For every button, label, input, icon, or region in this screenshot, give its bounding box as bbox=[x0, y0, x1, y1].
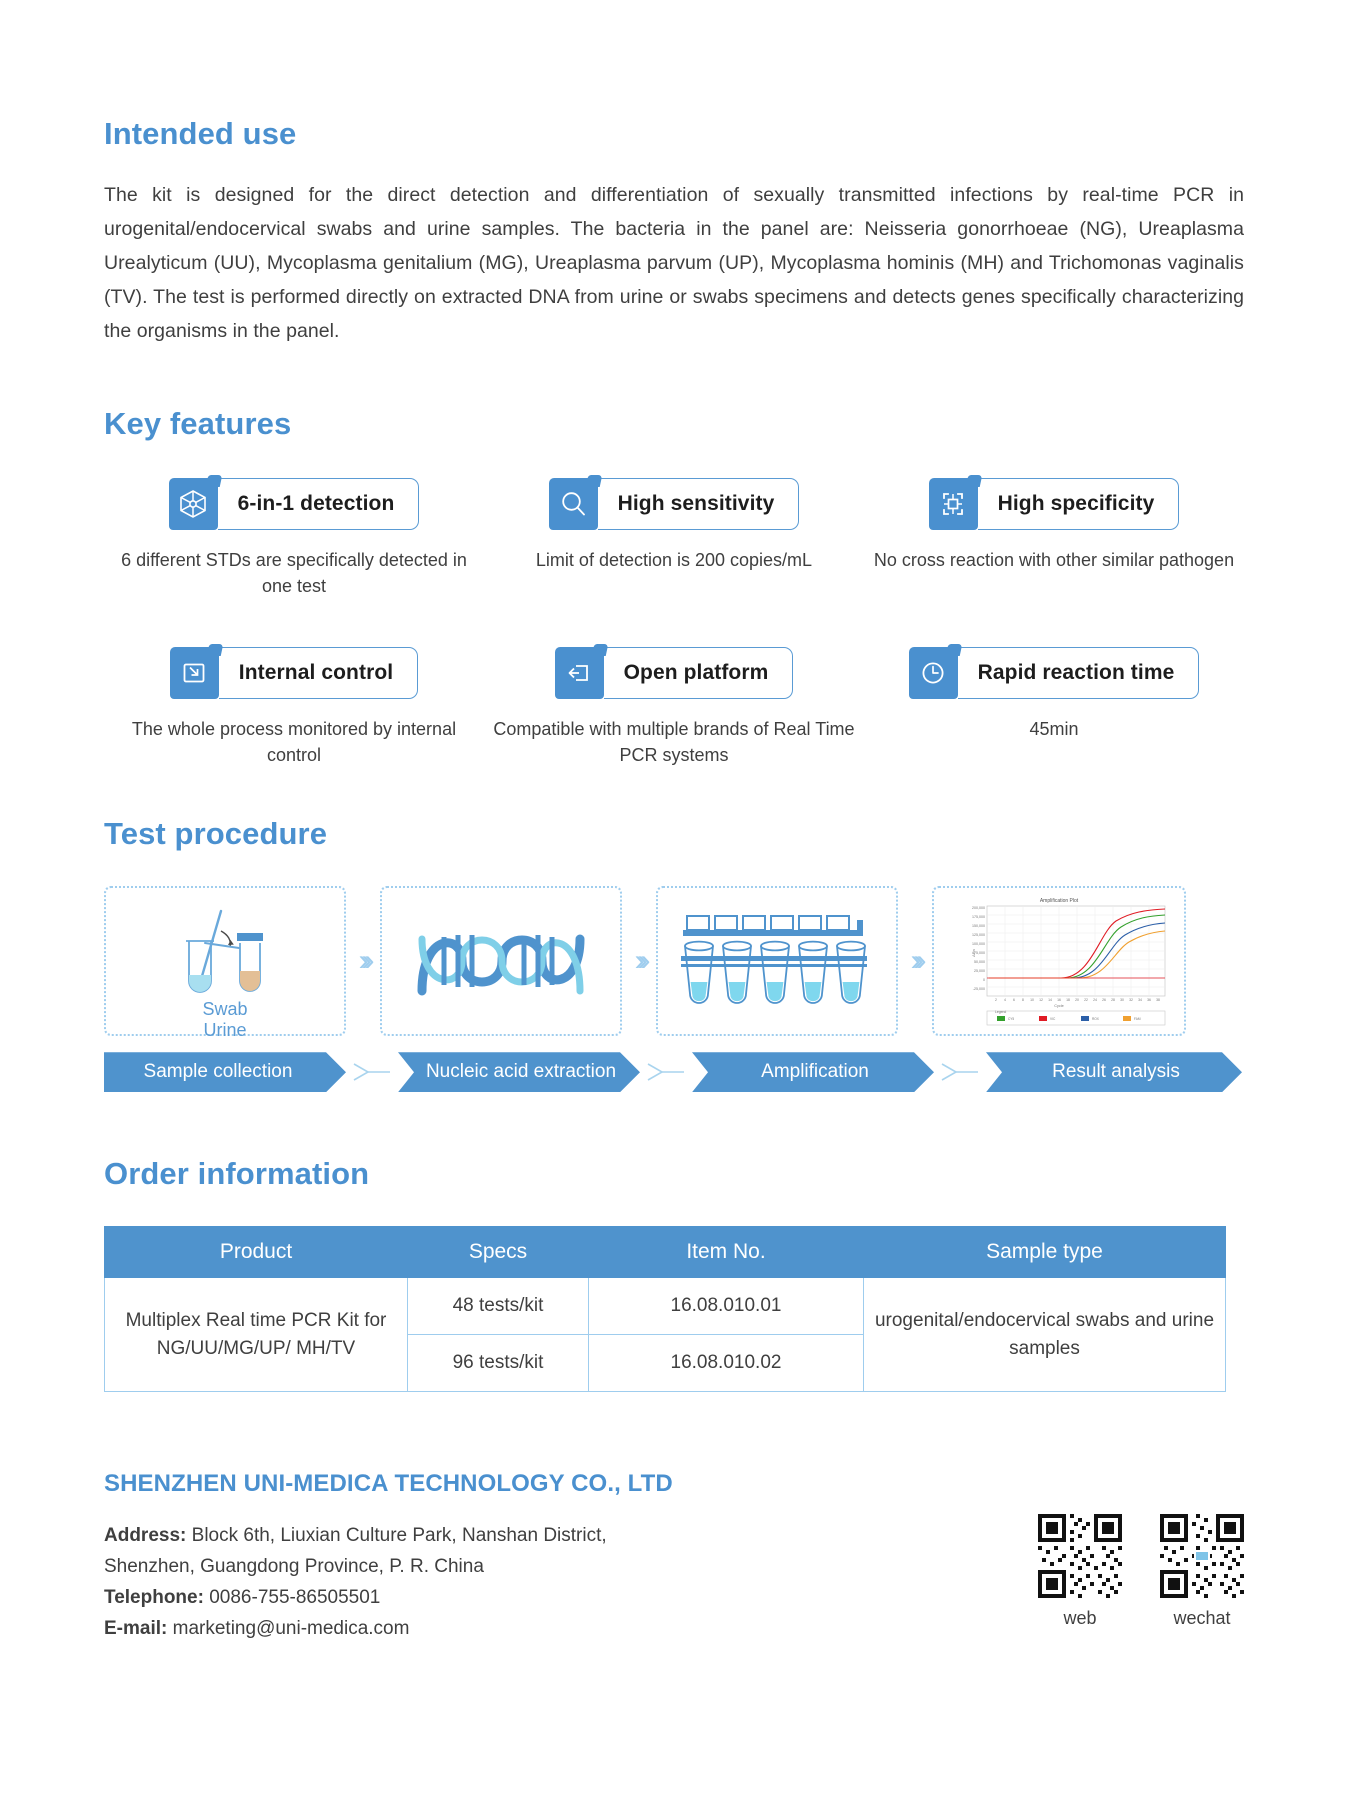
feature-badge: 6-in-1 detection bbox=[169, 478, 420, 530]
procedure-flow: Sample collection Nucleic acid extractio… bbox=[104, 1052, 1244, 1092]
qr-codes: web bbox=[1038, 1514, 1244, 1629]
footer-section: SHENZHEN UNI-MEDICA TECHNOLOGY CO., LTD … bbox=[104, 1470, 1244, 1644]
target-frame-icon bbox=[929, 478, 978, 530]
feature-internal-control: Internal control The whole process monit… bbox=[104, 647, 484, 768]
chevron-separator-icon: ››› bbox=[622, 946, 656, 976]
table-header-row: Product Specs Item No. Sample type bbox=[105, 1227, 1226, 1278]
svg-text:125,000: 125,000 bbox=[972, 933, 985, 937]
qr-code-web: web bbox=[1038, 1514, 1122, 1629]
feature-badge: Internal control bbox=[170, 647, 418, 699]
flow-step-amplification: Amplification bbox=[692, 1052, 934, 1092]
cell-specs: 96 tests/kit bbox=[408, 1335, 589, 1392]
svg-text:2: 2 bbox=[995, 998, 997, 1002]
feature-label: 6-in-1 detection bbox=[218, 478, 420, 530]
svg-text:32: 32 bbox=[1129, 998, 1133, 1002]
dna-helix-drawing bbox=[416, 913, 586, 1009]
svg-text:8: 8 bbox=[1022, 998, 1024, 1002]
intended-use-title: Intended use bbox=[104, 115, 1244, 152]
svg-text:26: 26 bbox=[1102, 998, 1106, 1002]
chevron-separator-icon: ››› bbox=[898, 946, 932, 976]
svg-text:-25,000: -25,000 bbox=[973, 987, 985, 991]
intended-use-body: The kit is designed for the direct detec… bbox=[104, 178, 1244, 348]
svg-text:ROX: ROX bbox=[1092, 1017, 1100, 1021]
column-header-product: Product bbox=[105, 1227, 408, 1278]
amplification-plot-chart: Amplification Plot bbox=[941, 893, 1177, 1029]
company-name: SHENZHEN UNI-MEDICA TECHNOLOGY CO., LTD bbox=[104, 1470, 1244, 1498]
feature-caption: 45min bbox=[1029, 716, 1078, 742]
telephone-label: Telephone: bbox=[104, 1587, 204, 1608]
order-information-title: Order information bbox=[104, 1155, 1244, 1192]
svg-text:CY5: CY5 bbox=[1008, 1017, 1014, 1021]
feature-high-sensitivity: High sensitivity Limit of detection is 2… bbox=[484, 478, 864, 599]
email-value[interactable]: marketing@uni-medica.com bbox=[173, 1618, 410, 1639]
brochure-page: Intended use The kit is designed for the… bbox=[0, 0, 1348, 1820]
feature-caption: Compatible with multiple brands of Real … bbox=[484, 716, 864, 768]
feature-badge: High sensitivity bbox=[549, 478, 800, 530]
feature-open-platform: Open platform Compatible with multiple b… bbox=[484, 647, 864, 768]
cell-sample-type: urogenital/endocervical swabs and urine … bbox=[864, 1278, 1226, 1392]
feature-caption: Limit of detection is 200 copies/mL bbox=[536, 547, 812, 573]
svg-text:10: 10 bbox=[1030, 998, 1034, 1002]
magnifier-icon bbox=[549, 478, 598, 530]
open-platform-icon bbox=[555, 647, 604, 699]
flow-arrow-icon bbox=[640, 1061, 692, 1083]
import-arrow-icon bbox=[170, 647, 219, 699]
column-header-sample-type: Sample type bbox=[864, 1227, 1226, 1278]
svg-text:150,000: 150,000 bbox=[972, 924, 985, 928]
email-label: E-mail: bbox=[104, 1618, 167, 1639]
svg-text:VIC: VIC bbox=[1050, 1017, 1056, 1021]
cell-item-no: 16.08.010.02 bbox=[589, 1335, 864, 1392]
key-features-title: Key features bbox=[104, 405, 1244, 442]
flow-arrow-icon bbox=[934, 1061, 986, 1083]
svg-text:24: 24 bbox=[1093, 998, 1097, 1002]
test-procedure-section: Test procedure bbox=[104, 815, 1244, 1092]
svg-text:200,000: 200,000 bbox=[972, 906, 985, 910]
qr-caption-wechat: wechat bbox=[1160, 1608, 1244, 1629]
order-information-table: Product Specs Item No. Sample type Multi… bbox=[104, 1226, 1226, 1392]
feature-high-specificity: High specificity No cross reaction with … bbox=[864, 478, 1244, 599]
flow-step-nucleic-acid-extraction: Nucleic acid extraction bbox=[398, 1052, 640, 1092]
feature-label: High sensitivity bbox=[598, 478, 800, 530]
svg-text:36: 36 bbox=[1147, 998, 1151, 1002]
qr-caption-web: web bbox=[1038, 1608, 1122, 1629]
feature-label: Internal control bbox=[219, 647, 418, 699]
key-features-grid: 6-in-1 detection 6 different STDs are sp… bbox=[104, 478, 1244, 768]
column-header-specs: Specs bbox=[408, 1227, 589, 1278]
svg-text:Cycle: Cycle bbox=[1054, 1004, 1064, 1008]
amplification-plot-illustration: Amplification Plot bbox=[932, 886, 1186, 1036]
sample-labels: Swab Urine bbox=[177, 999, 273, 1041]
feature-caption: No cross reaction with other similar pat… bbox=[874, 547, 1234, 573]
key-features-section: Key features bbox=[104, 405, 1244, 768]
svg-text:18: 18 bbox=[1066, 998, 1070, 1002]
feature-badge: High specificity bbox=[929, 478, 1180, 530]
svg-text:34: 34 bbox=[1138, 998, 1142, 1002]
column-header-item-no: Item No. bbox=[589, 1227, 864, 1278]
svg-text:25,000: 25,000 bbox=[974, 969, 985, 973]
pcr-tube-strip-drawing bbox=[677, 908, 877, 1014]
feature-rapid-reaction-time: Rapid reaction time 45min bbox=[864, 647, 1244, 768]
hexagon-network-icon bbox=[169, 478, 218, 530]
intended-use-section: Intended use The kit is designed for the… bbox=[104, 115, 1244, 348]
svg-text:12: 12 bbox=[1039, 998, 1043, 1002]
svg-text:0: 0 bbox=[983, 978, 985, 982]
qr-wechat-icon bbox=[1160, 1514, 1244, 1598]
feature-caption: The whole process monitored by internal … bbox=[104, 716, 484, 768]
svg-text:4: 4 bbox=[1004, 998, 1006, 1002]
qr-code-wechat: wechat bbox=[1160, 1514, 1244, 1629]
sample-label-urine: Urine bbox=[202, 1020, 248, 1041]
flow-step-sample-collection: Sample collection bbox=[104, 1052, 346, 1092]
order-information-section: Order information Product Specs Item No.… bbox=[104, 1155, 1244, 1392]
address-line-1: Block 6th, Liuxian Culture Park, Nanshan… bbox=[192, 1525, 607, 1546]
flow-arrow-icon bbox=[346, 1061, 398, 1083]
svg-text:16: 16 bbox=[1057, 998, 1061, 1002]
table-row: Multiplex Real time PCR Kit for NG/UU/MG… bbox=[105, 1278, 1226, 1335]
feature-badge: Rapid reaction time bbox=[909, 647, 1200, 699]
qr-web-icon bbox=[1038, 1514, 1122, 1598]
svg-text:30: 30 bbox=[1120, 998, 1124, 1002]
sample-collection-illustration: Swab Urine bbox=[104, 886, 346, 1036]
chevron-separator-icon: ››› bbox=[346, 946, 380, 976]
svg-text:14: 14 bbox=[1048, 998, 1052, 1002]
svg-text:20: 20 bbox=[1075, 998, 1079, 1002]
feature-label: Rapid reaction time bbox=[958, 647, 1200, 699]
test-procedure-title: Test procedure bbox=[104, 815, 1244, 852]
clock-icon bbox=[909, 647, 958, 699]
feature-badge: Open platform bbox=[555, 647, 794, 699]
dna-helix-illustration bbox=[380, 886, 622, 1036]
svg-text:Amplification Plot: Amplification Plot bbox=[1040, 898, 1079, 904]
telephone-value: 0086-755-86505501 bbox=[209, 1587, 380, 1608]
feature-6-in-1-detection: 6-in-1 detection 6 different STDs are sp… bbox=[104, 478, 484, 599]
svg-text:28: 28 bbox=[1111, 998, 1115, 1002]
address-label: Address: bbox=[104, 1525, 186, 1546]
svg-text:100,000: 100,000 bbox=[972, 942, 985, 946]
feature-label: Open platform bbox=[604, 647, 794, 699]
feature-caption: 6 different STDs are specifically detect… bbox=[104, 547, 484, 599]
svg-text:50,000: 50,000 bbox=[974, 960, 985, 964]
cell-product: Multiplex Real time PCR Kit for NG/UU/MG… bbox=[105, 1278, 408, 1392]
svg-text:Legend: Legend bbox=[995, 1010, 1006, 1014]
cell-item-no: 16.08.010.01 bbox=[589, 1278, 864, 1335]
sample-label-swab: Swab bbox=[202, 999, 248, 1020]
swab-urine-drawing: Swab Urine bbox=[177, 905, 273, 1017]
svg-text:6: 6 bbox=[1013, 998, 1015, 1002]
flow-step-result-analysis: Result analysis bbox=[986, 1052, 1242, 1092]
svg-text:FAM: FAM bbox=[1134, 1017, 1141, 1021]
pcr-tubes-illustration bbox=[656, 886, 898, 1036]
svg-text:22: 22 bbox=[1084, 998, 1088, 1002]
svg-text:38: 38 bbox=[1156, 998, 1160, 1002]
svg-text:175,000: 175,000 bbox=[972, 915, 985, 919]
feature-label: High specificity bbox=[978, 478, 1180, 530]
procedure-panels: Swab Urine ››› bbox=[104, 886, 1244, 1036]
svg-text:ΔRn: ΔRn bbox=[971, 949, 976, 957]
cell-specs: 48 tests/kit bbox=[408, 1278, 589, 1335]
